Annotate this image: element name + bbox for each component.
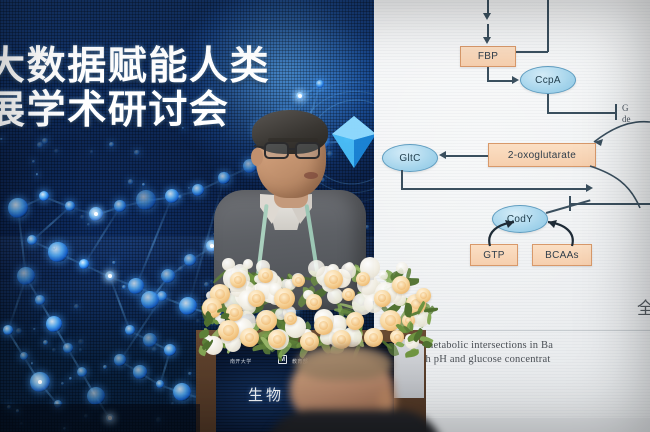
rose-center [394,334,401,341]
network-edge [31,206,70,241]
network-dust [178,195,182,199]
speaker-mouth [304,172,318,179]
network-dust [80,215,84,219]
glasses-bridge [289,148,297,150]
network-dust [128,179,133,184]
diagram-cutoff-label-a: G [622,103,629,113]
network-dust [112,261,115,264]
foreground-head-shoulder [264,410,444,432]
rose-center [351,317,360,326]
rose-center [369,333,378,342]
network-dust [74,304,79,309]
network-dust [42,138,47,143]
network-node [164,344,176,356]
glasses-lens-right [295,142,320,159]
rose-center [295,277,302,284]
network-node [87,387,105,405]
network-node [46,316,61,331]
connector-fbp-down [487,67,489,81]
filler-bloom [396,262,408,274]
network-dust [178,266,184,272]
rose-center [223,325,234,336]
slide-divider [410,330,650,331]
network-node [179,297,197,315]
podium-university-logo: 南开大学 [230,358,252,365]
network-dust [32,160,35,163]
network-edge [7,277,27,332]
network-node [17,267,35,285]
network-dust [87,223,90,226]
network-dust [43,340,48,345]
network-node [79,259,89,269]
connector-gltc-right [401,188,587,190]
network-dust [188,187,190,189]
network-dust [69,377,71,379]
network-dust [79,348,82,351]
filler-bloom [345,262,354,271]
network-node [173,383,191,401]
network-node [3,325,13,335]
curved-arrow-bcaas-cody [538,218,580,248]
network-dust [109,142,114,147]
rose-center [279,293,290,304]
connector-fbp-up [547,0,549,52]
curved-arrow-gtp-cody [484,218,526,248]
filler-bloom [243,259,253,269]
rose-center [397,281,406,290]
connector-to-ccpa [487,80,513,82]
inhibition-bar-right [569,196,571,211]
rose-center [345,291,352,298]
flower-arrangement [196,232,428,352]
network-dust [52,348,57,353]
network-node [65,201,74,210]
network-dust [61,382,64,385]
network-dust [54,149,58,153]
diagram-node-fbp: FBP [460,46,516,67]
network-dust [134,150,140,156]
network-spark [108,274,112,278]
network-dust [122,285,126,289]
screenshot-root: 大数据赋能人类 展学术研讨会 FBP CcpA G de [0,0,650,432]
rose-center [234,276,242,284]
network-node [8,198,27,217]
network-node [136,190,156,210]
network-node [128,278,143,293]
arrow-shaft-top-2 [487,24,489,38]
arrow-head-top-2 [483,37,491,44]
network-dust [16,328,22,334]
network-dust [142,183,145,186]
rose-center [215,289,225,299]
network-node [63,343,72,352]
network-node [143,333,156,346]
network-spark [38,380,42,384]
glasses-lens-left [264,142,289,159]
connector-fbp-right [516,51,548,53]
foreground-head-hair [296,346,392,380]
network-node [133,365,146,378]
network-node [192,184,204,196]
network-dust [33,328,36,331]
arrow-head-oxo-gltc [439,151,446,159]
network-spark [94,212,98,216]
network-node [184,254,196,266]
network-dust [103,365,107,369]
arrow-shaft-oxo-gltc [446,155,488,157]
rose-center [230,308,239,317]
speaker-glasses [262,142,326,160]
network-node [48,242,67,261]
lower-left-shadow [0,404,200,432]
network-node [161,269,175,283]
network-node [77,367,88,378]
arrow-head-ccpa [512,76,519,84]
rose-center [385,315,396,326]
foreground-audience-head [282,352,412,432]
arrow-shaft-top-1 [487,0,489,14]
network-dust [90,150,93,153]
network-node [125,325,135,335]
connector-gltc-down [401,170,403,190]
rose-center [287,315,294,322]
connector-ccpa-right [547,112,616,114]
network-node [114,354,125,365]
connector-ccpa-down [547,94,549,114]
rose-center [252,294,260,302]
rose-center [273,335,282,344]
network-dust [157,382,163,388]
rose-center [310,298,318,306]
network-dust [152,347,157,352]
diagram-node-oxoglutarate: 2-oxoglutarate [488,143,596,167]
diagram-node-ccpa: CcpA [520,66,576,94]
podium-headline: 生物 [248,384,284,405]
arrow-head-top-1 [483,13,491,20]
network-dust [36,173,38,175]
network-node [114,200,126,212]
banner-line-1: 大数据赋能人类 [0,46,386,87]
slide-corner-character: 全 [637,294,650,319]
diagram-node-gltc: GltC [382,144,438,172]
network-dust [0,138,2,140]
network-dust [188,372,192,376]
network-dust [31,362,33,364]
network-dust [78,339,84,345]
